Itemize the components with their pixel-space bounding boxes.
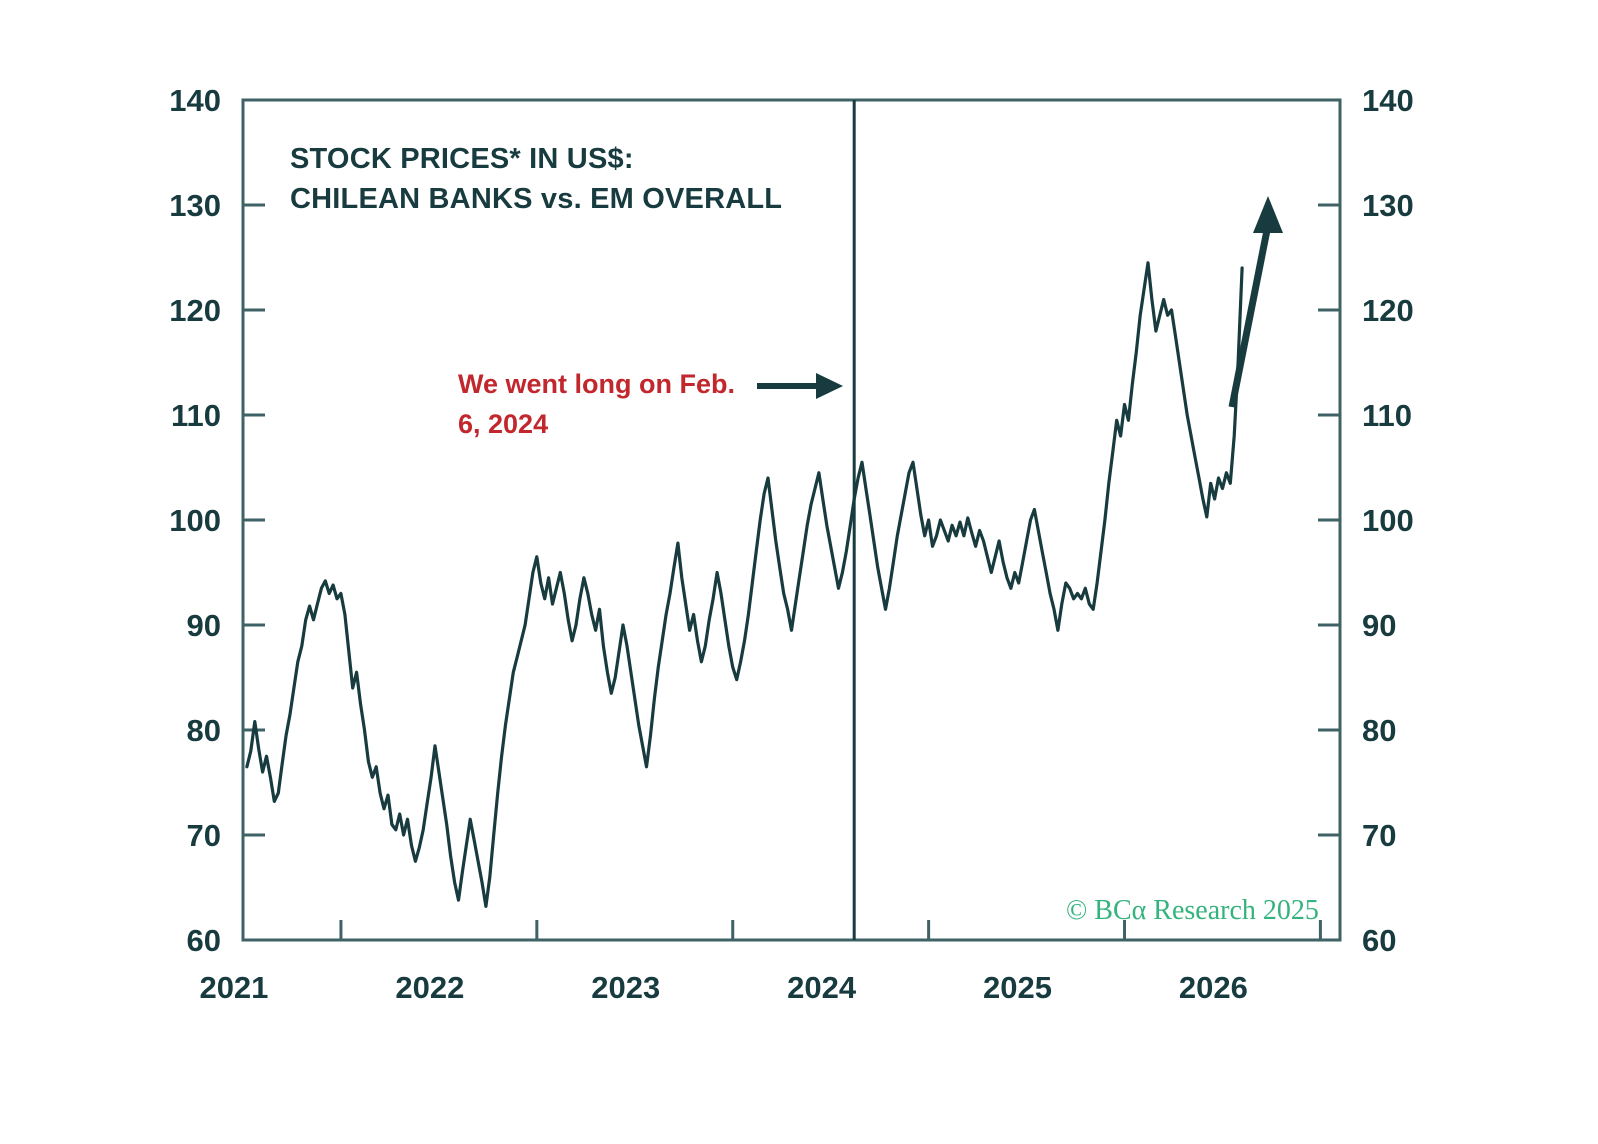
y-tick-label-left: 110 xyxy=(171,398,221,433)
y-tick-label-right: 80 xyxy=(1362,713,1396,748)
y-tick-label-left: 60 xyxy=(187,923,221,958)
chart-title-line2: CHILEAN BANKS vs. EM OVERALL xyxy=(290,183,782,215)
y-tick-label-left: 140 xyxy=(169,83,221,118)
y-tick-label-right: 70 xyxy=(1362,818,1396,853)
chart-title-line1: STOCK PRICES* IN US$: xyxy=(290,143,634,175)
annotation-label-line1: We went long on Feb. xyxy=(458,369,735,399)
y-tick-label-right: 100 xyxy=(1362,503,1414,538)
y-tick-label-left: 120 xyxy=(169,293,221,328)
copyright-notice: © BCα Research 2025 xyxy=(1066,895,1319,926)
x-tick-label: 2023 xyxy=(591,970,660,1005)
y-tick-label-right: 90 xyxy=(1362,608,1396,643)
y-tick-label-left: 130 xyxy=(169,188,221,223)
x-tick-label: 2025 xyxy=(983,970,1052,1005)
chart-canvas: 60708090100110120130140 6070809010011012… xyxy=(0,0,1598,1144)
chart-figure: 60708090100110120130140 6070809010011012… xyxy=(0,0,1598,1144)
y-tick-label-right: 110 xyxy=(1362,398,1412,433)
y-tick-label-left: 90 xyxy=(187,608,221,643)
x-tick-label: 2021 xyxy=(199,970,268,1005)
y-tick-label-right: 60 xyxy=(1362,923,1396,958)
x-tick-label: 2026 xyxy=(1179,970,1248,1005)
y-tick-label-left: 80 xyxy=(187,713,221,748)
plot-area xyxy=(243,100,1340,940)
x-tick-label: 2022 xyxy=(395,970,464,1005)
y-tick-label-left: 100 xyxy=(169,503,221,538)
y-tick-label-right: 120 xyxy=(1362,293,1414,328)
y-tick-label-right: 140 xyxy=(1362,83,1414,118)
y-tick-label-right: 130 xyxy=(1362,188,1414,223)
plot-frame xyxy=(243,100,1340,940)
y-tick-label-left: 70 xyxy=(187,818,221,853)
annotation-label-line2: 6, 2024 xyxy=(458,409,548,439)
x-tick-label: 2024 xyxy=(787,970,857,1005)
